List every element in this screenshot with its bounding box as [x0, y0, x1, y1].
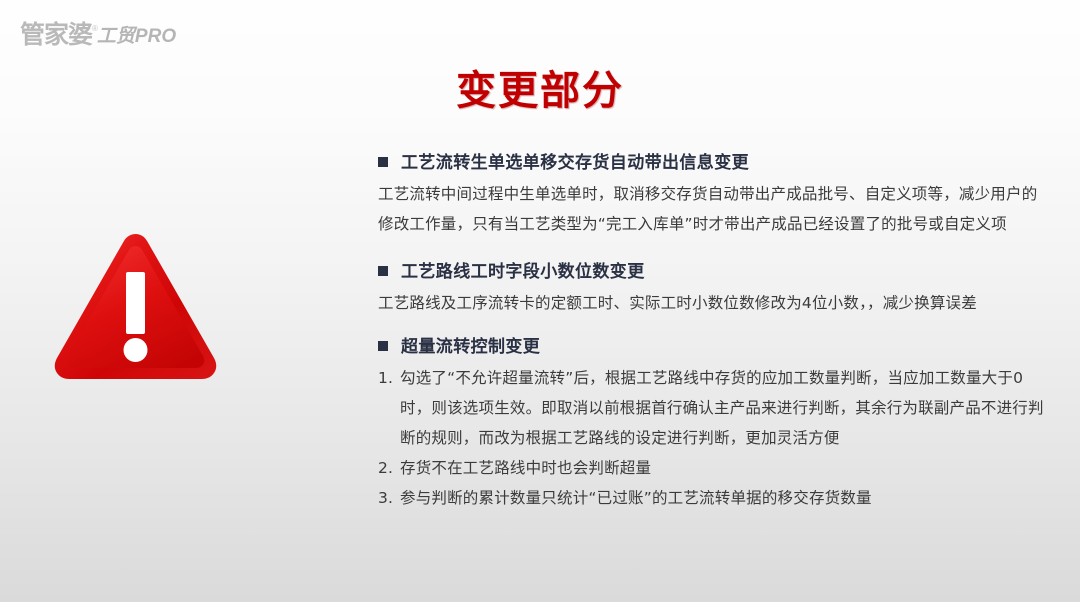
list-item: 2. 存货不在工艺路线中时也会判断超量: [378, 453, 1050, 483]
section-1-heading: 工艺流转生单选单移交存货自动带出信息变更: [378, 148, 1050, 173]
list-item-number: 2.: [378, 453, 400, 483]
square-bullet-icon: [378, 266, 388, 276]
section-3-numbered-list: 1. 勾选了“不允许超量流转”后，根据工艺路线中存货的应加工数量判断，当应加工数…: [378, 363, 1050, 513]
section-2-body: 工艺路线及工序流转卡的定额工时、实际工时小数位数修改为4位小数，，减少换算误差: [378, 288, 1050, 318]
list-item-text: 勾选了“不允许超量流转”后，根据工艺路线中存货的应加工数量判断，当应加工数量大于…: [400, 363, 1050, 453]
section-1: 工艺流转生单选单移交存货自动带出信息变更 工艺流转中间过程中生单选单时，取消移交…: [378, 148, 1050, 239]
list-item-text: 参与判断的累计数量只统计“已过账”的工艺流转单据的移交存货数量: [400, 483, 1050, 513]
square-bullet-icon: [378, 157, 388, 167]
warning-triangle-icon: [48, 228, 223, 388]
list-item-number: 1.: [378, 363, 400, 393]
section-1-body: 工艺流转中间过程中生单选单时，取消移交存货自动带出产成品批号、自定义项等，减少用…: [378, 179, 1050, 239]
section-2-heading: 工艺路线工时字段小数位数变更: [378, 257, 1050, 282]
list-item-text: 存货不在工艺路线中时也会判断超量: [400, 453, 1050, 483]
brand-logo: 管家婆 ® 工贸PRO: [20, 22, 179, 47]
list-item: 3. 参与判断的累计数量只统计“已过账”的工艺流转单据的移交存货数量: [378, 483, 1050, 513]
section-1-heading-text: 工艺流转生单选单移交存货自动带出信息变更: [401, 148, 749, 173]
square-bullet-icon: [378, 341, 388, 351]
section-2-heading-text: 工艺路线工时字段小数位数变更: [401, 257, 645, 282]
section-3-heading: 超量流转控制变更: [378, 332, 1050, 357]
section-3: 超量流转控制变更 1. 勾选了“不允许超量流转”后，根据工艺路线中存货的应加工数…: [378, 332, 1050, 513]
section-3-heading-text: 超量流转控制变更: [401, 332, 540, 357]
slide-content: 工艺流转生单选单移交存货自动带出信息变更 工艺流转中间过程中生单选单时，取消移交…: [378, 148, 1050, 515]
spacer-2: [378, 320, 1050, 332]
brand-logo-product: 工贸PRO: [97, 27, 176, 46]
section-2: 工艺路线工时字段小数位数变更 工艺路线及工序流转卡的定额工时、实际工时小数位数修…: [378, 257, 1050, 318]
slide-title: 变更部分: [0, 58, 1080, 116]
spacer-1: [378, 241, 1050, 257]
list-item-number: 3.: [378, 483, 400, 513]
list-item: 1. 勾选了“不允许超量流转”后，根据工艺路线中存货的应加工数量判断，当应加工数…: [378, 363, 1050, 453]
brand-logo-cn: 管家婆: [20, 22, 92, 47]
